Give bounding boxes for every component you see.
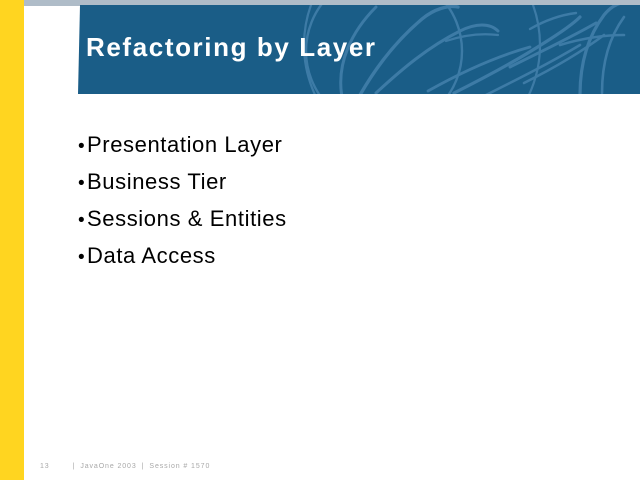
footer-page-number: 13 [40, 461, 68, 473]
list-item-label: Sessions & Entities [87, 206, 287, 231]
list-item-label: Business Tier [87, 169, 227, 194]
bullet-dot-icon: • [78, 165, 87, 202]
bullet-dot-icon: • [78, 128, 87, 165]
list-item: •Data Access [78, 237, 287, 274]
left-accent-bar [0, 0, 24, 480]
list-item: •Business Tier [78, 163, 287, 200]
footer-event-name: JavaOne 2003 [80, 463, 136, 470]
list-item-label: Data Access [87, 243, 216, 268]
footer-separator: | [68, 461, 81, 473]
list-item: •Presentation Layer [78, 126, 287, 163]
bullet-dot-icon: • [78, 202, 87, 239]
footer-session-id: Session # 1570 [149, 463, 210, 470]
bullet-dot-icon: • [78, 239, 87, 276]
footer-separator: | [137, 461, 150, 473]
page-title: Refactoring by Layer [86, 32, 377, 63]
list-item: •Sessions & Entities [78, 200, 287, 237]
slide-canvas: Refactoring by Layer •Presentation Layer… [0, 0, 640, 480]
list-item-label: Presentation Layer [87, 132, 282, 157]
slide-footer: 13|JavaOne 2003|Session # 1570 [40, 461, 210, 473]
bullet-list: •Presentation Layer •Business Tier •Sess… [78, 126, 287, 274]
